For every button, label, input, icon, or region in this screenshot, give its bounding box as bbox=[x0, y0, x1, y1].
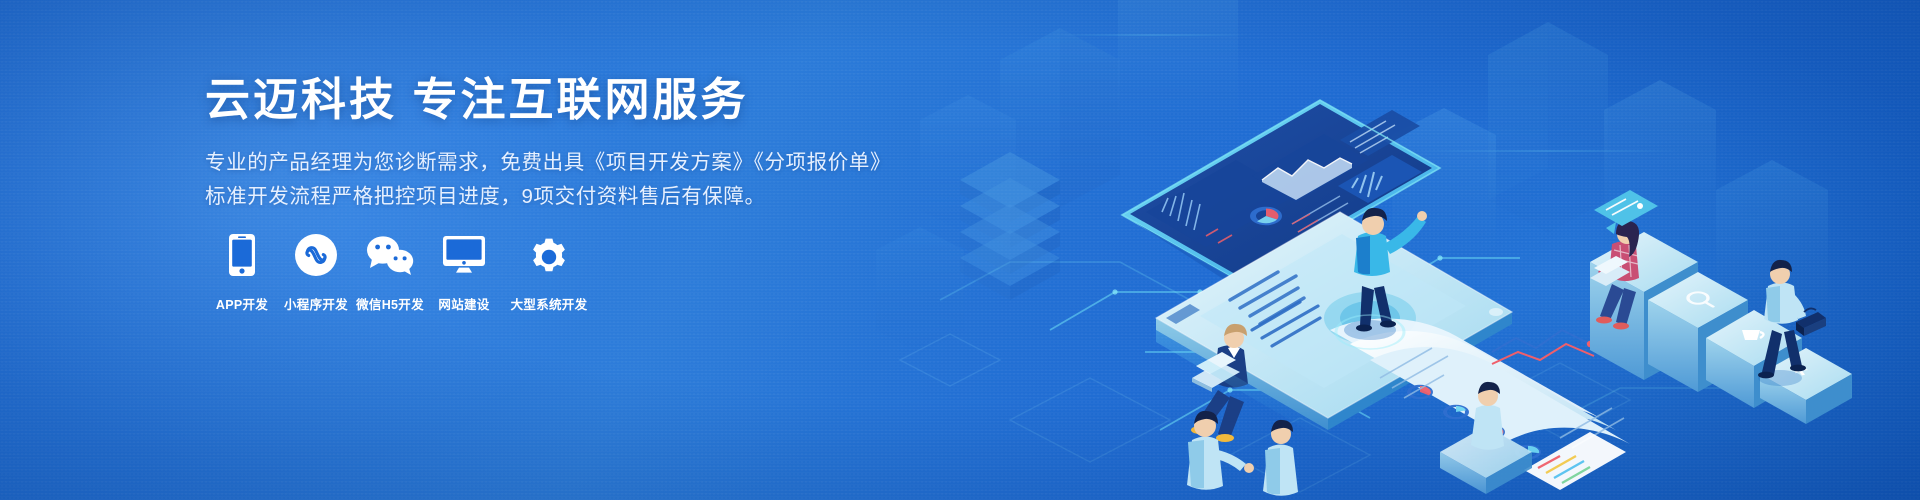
subtitle-line-1: 专业的产品经理为您诊断需求，免费出具《项目开发方案》《分项报价单》 bbox=[205, 146, 891, 180]
service-item-large-system[interactable]: 大型系统开发 bbox=[501, 232, 597, 313]
service-label-wechat: 微信H5开发 bbox=[356, 294, 424, 313]
service-label-large-system: 大型系统开发 bbox=[511, 294, 588, 313]
service-label-website: 网站建设 bbox=[438, 294, 489, 313]
mini-program-icon bbox=[295, 232, 337, 278]
page-title: 云迈科技 专注互联网服务 bbox=[205, 72, 749, 128]
service-item-wechat[interactable]: 微信H5开发 bbox=[353, 232, 427, 313]
service-item-website[interactable]: 网站建设 bbox=[427, 232, 501, 313]
mobile-phone-icon bbox=[229, 232, 255, 278]
isometric-illustration bbox=[900, 0, 1920, 500]
server-stack bbox=[960, 152, 1060, 300]
service-label-mini-program: 小程序开发 bbox=[284, 294, 348, 313]
subtitle-line-2: 标准开发流程严格把控项目进度，9项交付资料售后有保障。 bbox=[205, 180, 891, 214]
gear-icon bbox=[529, 232, 569, 278]
promotional-banner: 云迈科技 专注互联网服务 专业的产品经理为您诊断需求，免费出具《项目开发方案》《… bbox=[0, 0, 1920, 500]
monitor-icon bbox=[443, 232, 485, 278]
banner-subtitle: 专业的产品经理为您诊断需求，免费出具《项目开发方案》《分项报价单》 标准开发流程… bbox=[205, 146, 891, 214]
front-figures bbox=[1187, 411, 1298, 496]
wechat-icon bbox=[366, 232, 414, 278]
service-item-mini-program[interactable]: 小程序开发 bbox=[279, 232, 353, 313]
banner-content: 云迈科技 专注互联网服务 专业的产品经理为您诊断需求，免费出具《项目开发方案》《… bbox=[0, 0, 960, 500]
service-list: APP开发 小程序开发 bbox=[205, 232, 597, 313]
service-label-app: APP开发 bbox=[216, 294, 268, 313]
service-item-app[interactable]: APP开发 bbox=[205, 232, 279, 313]
